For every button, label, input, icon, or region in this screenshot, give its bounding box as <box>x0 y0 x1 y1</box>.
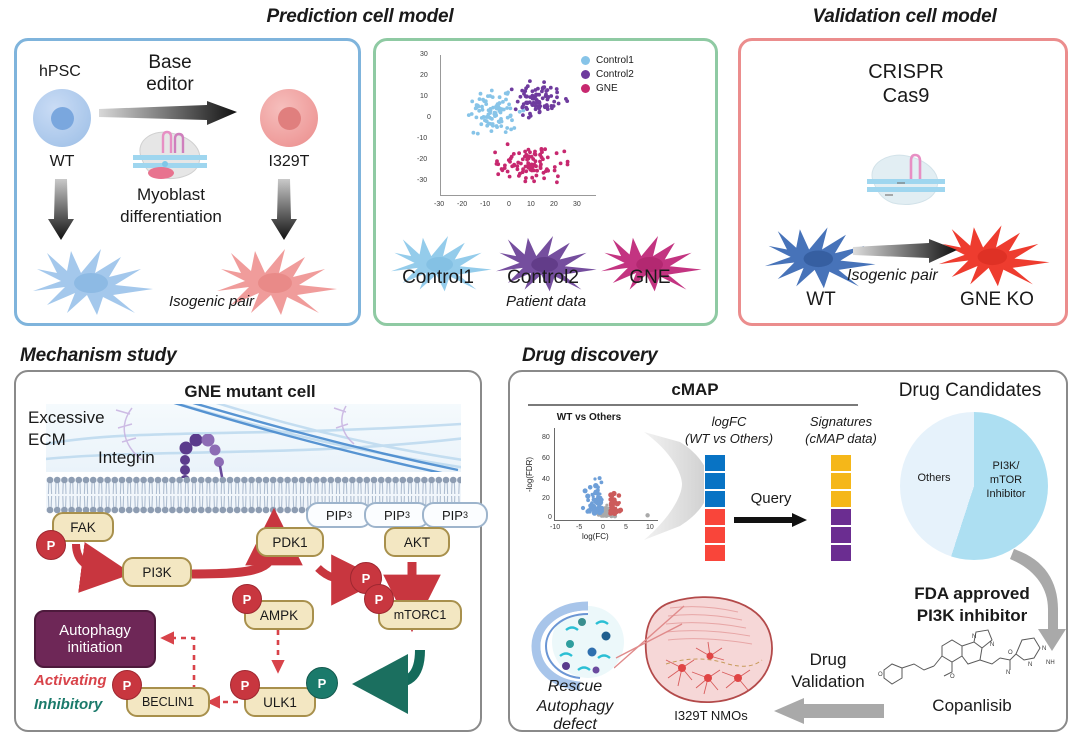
signature-segment-up <box>830 490 852 508</box>
mutant-nucleus-icon <box>278 107 301 130</box>
autophagy-initiation-box: Autophagy initiation <box>34 610 156 668</box>
tsne-xtick: -20 <box>457 201 467 208</box>
logfc-bar <box>704 454 726 562</box>
query-arrow-icon <box>734 512 808 528</box>
patient-label-control1: Control1 <box>382 267 494 289</box>
signature-segment-down <box>830 508 852 526</box>
volcano-to-logfc-arrow-icon <box>642 430 712 542</box>
differentiation-label-line2: differentiation <box>91 207 251 227</box>
legend-label-control1: Control1 <box>596 55 634 66</box>
base-editor-label-line1: Base <box>113 53 227 74</box>
copanlisib-structure-icon: OO NN NO NN NH <box>876 624 1066 696</box>
signature-bar <box>830 454 852 562</box>
volcano-xtick: 0 <box>601 524 605 531</box>
logfc-segment-up <box>704 490 726 508</box>
autophagosome-connector-icon <box>614 600 694 682</box>
phospho-ulk1-inhibitory: P <box>306 667 338 699</box>
drug-discovery-panel: cMAP WT vs Others 80 60 40 20 0 -10 -5 0… <box>508 370 1068 732</box>
base-editor-complex-icon <box>129 127 211 183</box>
validation-arrow-icon <box>853 239 959 265</box>
differentiation-arrow-left-icon <box>47 179 75 241</box>
crispr-cas9-complex-icon <box>863 149 949 211</box>
fda-label-line1: FDA approved <box>882 584 1062 604</box>
validation-isogenic-pair-label: Isogenic pair <box>847 267 938 285</box>
signature-segment-up <box>830 472 852 490</box>
tsne-xtick: 10 <box>527 201 535 208</box>
differentiation-arrow-right-icon <box>270 179 298 241</box>
phospho-beclin1: P <box>112 670 142 700</box>
wt-label: WT <box>27 153 97 171</box>
signature-segment-up <box>830 454 852 472</box>
section-title-mechanism: Mechanism study <box>20 345 176 367</box>
autophagy-label-line1: Autophagy <box>59 622 131 639</box>
logfc-segment-down <box>704 508 726 526</box>
mechanism-study-panel: GNE mutant cell Excessive ECM Integrin <box>14 370 482 732</box>
wt-myoblast-icon <box>31 243 159 317</box>
tsne-xtick: -30 <box>434 201 444 208</box>
signature-segment-down <box>830 544 852 562</box>
query-label: Query <box>726 490 816 507</box>
section-title-drug: Drug discovery <box>522 345 658 367</box>
legend-inhibitory: Inhibitory <box>34 696 102 713</box>
legend-activating: Activating <box>34 672 107 689</box>
patient-data-panel: 30 20 10 0 -10 -20 -30 -30 -20 -10 0 10 … <box>373 38 718 326</box>
svg-text:O: O <box>950 674 955 680</box>
tsne-legend: Control1 Control2 GNE <box>581 55 634 94</box>
validation-wt-label: WT <box>771 289 871 311</box>
signatures-header-line2: (cMAP data) <box>786 431 896 446</box>
logfc-header-line2: (WT vs Others) <box>664 431 794 446</box>
patient-label-control2: Control2 <box>487 267 599 289</box>
svg-text:N: N <box>1042 646 1046 652</box>
tsne-xtick: -10 <box>480 201 490 208</box>
legend-swatch-control2 <box>581 70 590 79</box>
signature-segment-down <box>830 526 852 544</box>
volcano-xtick: -10 <box>550 524 560 531</box>
fda-label-line2: PI3K inhibitor <box>882 606 1062 626</box>
phospho-fak: P <box>36 530 66 560</box>
mutant-label: I329T <box>245 153 333 171</box>
tsne-xtick: 30 <box>573 201 581 208</box>
compound-name: Copanlisib <box>892 696 1052 716</box>
isogenic-pair-label: Isogenic pair <box>169 293 254 310</box>
section-title-prediction: Prediction cell model <box>0 6 720 28</box>
patient-label-gne: GNE <box>594 267 706 289</box>
validation-cell-model-panel: CRISPR Cas9 Isogenic pair WT GNE KO <box>738 38 1068 326</box>
rescue-label-line3: defect <box>516 716 634 734</box>
logfc-segment-up <box>704 454 726 472</box>
volcano-xtick: -5 <box>576 524 582 531</box>
tsne-xtick: 20 <box>550 201 558 208</box>
patient-data-caption: Patient data <box>446 293 646 310</box>
node-akt: AKT <box>384 527 450 557</box>
signatures-header-line1: Signatures <box>786 414 896 429</box>
svg-text:N: N <box>990 642 994 648</box>
svg-text:N: N <box>1028 662 1032 668</box>
pie-label-pi3k-mtor: PI3K/mTORInhibitor <box>978 459 1034 501</box>
svg-text:N: N <box>1006 670 1010 676</box>
logfc-segment-up <box>704 472 726 490</box>
legend-label-gne: GNE <box>596 83 618 94</box>
svg-text:O: O <box>1008 650 1013 656</box>
nmo-label: I329T NMOs <box>628 708 794 723</box>
rescue-label-line2: Autophagy <box>516 698 634 716</box>
base-editor-arrow-icon <box>99 101 239 127</box>
hpsc-wt-nucleus-icon <box>51 107 74 130</box>
pie-label-others: Others <box>906 472 962 484</box>
legend-swatch-gne <box>581 84 590 93</box>
validation-ko-label: GNE KO <box>939 289 1055 311</box>
volcano-title: WT vs Others <box>524 412 654 423</box>
crispr-label-line1: CRISPR <box>741 61 1071 84</box>
logfc-segment-down <box>704 526 726 544</box>
volcano-x-axis-label: log(FC) <box>582 532 609 541</box>
prediction-cell-model-panel: hPSC WT Base editor I329T Myoblast diffe… <box>14 38 361 326</box>
cmap-title: cMAP <box>530 380 860 400</box>
legend-label-control2: Control2 <box>596 69 634 80</box>
base-editor-label-line2: editor <box>113 75 227 96</box>
rescue-label-line1: Rescue <box>516 678 634 696</box>
drug-validation-label-line2: Validation <box>768 672 888 692</box>
phospho-ulk1: P <box>230 670 260 700</box>
tsne-xtick: 0 <box>507 201 511 208</box>
drug-candidates-title: Drug Candidates <box>870 380 1070 402</box>
phospho-ampk: P <box>232 584 262 614</box>
differentiation-label-line1: Myoblast <box>101 185 241 205</box>
drug-validation-label-line1: Drug <box>778 650 878 670</box>
hpsc-label: hPSC <box>39 63 81 81</box>
svg-text:NH: NH <box>1046 660 1055 666</box>
logfc-header-line1: logFC <box>674 414 784 429</box>
crispr-label-line2: Cas9 <box>741 85 1071 108</box>
node-pi3k: PI3K <box>122 557 192 587</box>
volcano-xtick: 5 <box>624 524 628 531</box>
phospho-mtorc1: P <box>364 584 394 614</box>
logfc-segment-down <box>704 544 726 562</box>
section-title-validation: Validation cell model <box>730 6 1079 28</box>
node-pdk1: PDK1 <box>256 527 324 557</box>
cmap-divider <box>528 404 858 406</box>
autophagy-label-line2: initiation <box>59 639 131 656</box>
svg-text:N: N <box>972 634 976 640</box>
legend-swatch-control1 <box>581 56 590 65</box>
